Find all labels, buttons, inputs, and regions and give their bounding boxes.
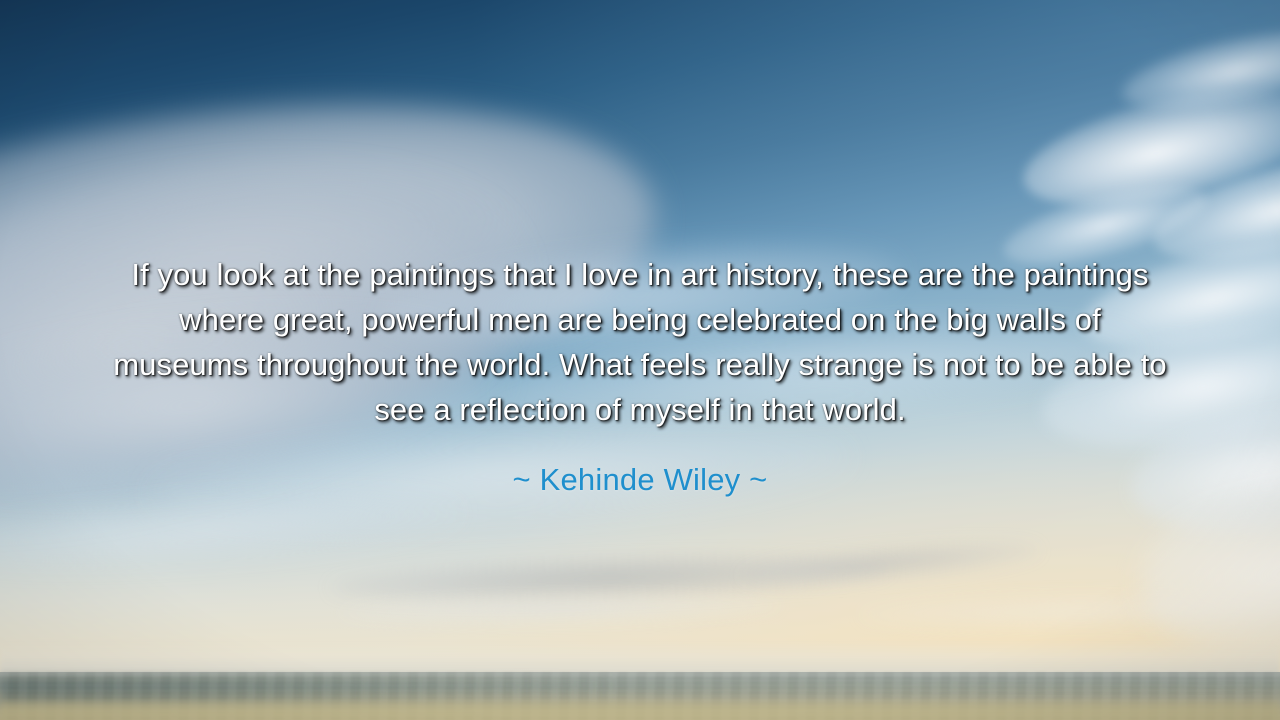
quote-text: If you look at the paintings that I love… [110,252,1170,432]
quote-attribution: ~ Kehinde Wiley ~ [513,461,768,499]
quote-image-canvas: If you look at the paintings that I love… [0,0,1280,720]
text-overlay: If you look at the paintings that I love… [0,0,1280,720]
